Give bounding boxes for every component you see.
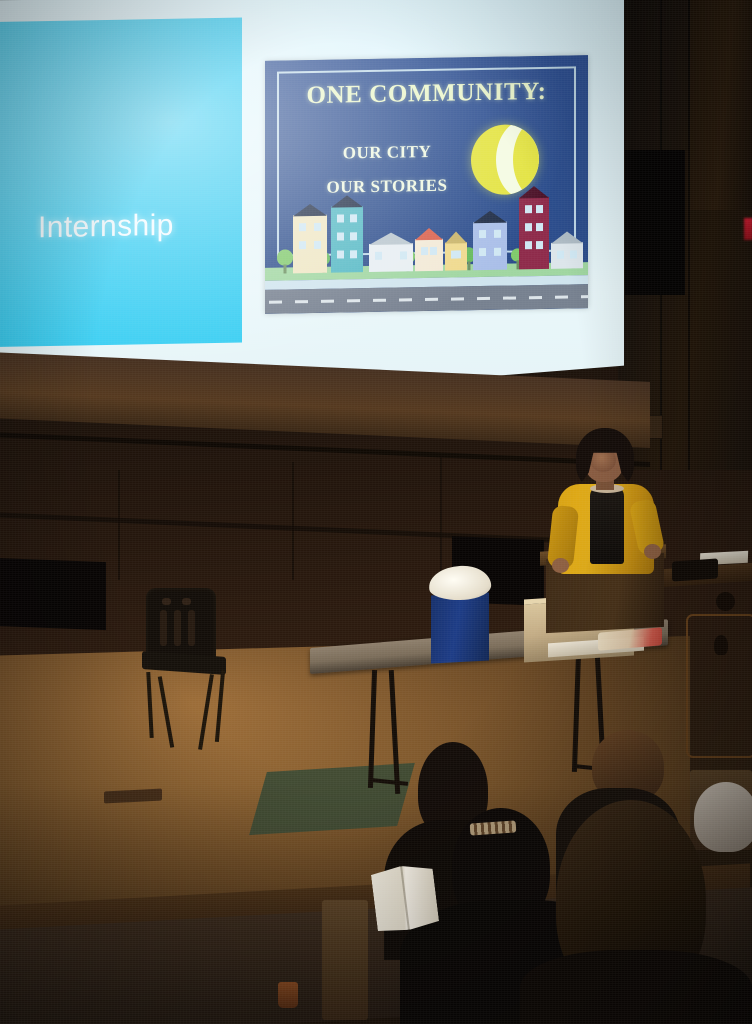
road-dash xyxy=(425,298,438,301)
chair-back xyxy=(146,588,216,660)
exit-light xyxy=(744,218,752,240)
stacking-chair xyxy=(138,588,242,756)
poster-tree xyxy=(277,249,293,273)
poster-building xyxy=(415,239,443,271)
road-dash xyxy=(451,297,464,300)
road-dash xyxy=(347,299,360,302)
road-dash xyxy=(373,299,386,302)
slide-title-block xyxy=(0,17,242,347)
seat-back xyxy=(322,900,368,1020)
audience-member-4-body xyxy=(520,950,752,1024)
dark-wall-panel xyxy=(625,150,685,295)
console-lock-icon[interactable] xyxy=(714,635,728,655)
road-dash xyxy=(503,296,516,299)
presenter-top xyxy=(590,486,624,564)
poster-building xyxy=(331,206,363,273)
poster-building xyxy=(519,197,549,270)
presentation-photo: Internship ONE COMMUNITY: OUR CITY OUR S… xyxy=(0,0,752,1024)
slide-poster-image: ONE COMMUNITY: OUR CITY OUR STORIES xyxy=(265,55,588,314)
dark-opening xyxy=(0,558,106,630)
poster-building xyxy=(445,242,467,270)
slide-title-text: Internship xyxy=(38,209,174,245)
poster-cityscape xyxy=(265,216,588,314)
road-dash xyxy=(321,300,334,303)
poster-headline: ONE COMMUNITY: xyxy=(265,77,588,111)
road-dash xyxy=(581,295,588,298)
presenter xyxy=(540,428,670,578)
program-paper[interactable] xyxy=(370,862,439,933)
presenter-left-hand xyxy=(552,558,569,573)
road-dash xyxy=(555,296,568,299)
presenter-right-hand xyxy=(644,544,661,559)
poster-building xyxy=(293,215,327,274)
panel-seam xyxy=(292,462,294,580)
panel-seam xyxy=(118,470,120,580)
panel-seam xyxy=(440,456,442,576)
road-dash xyxy=(529,296,542,299)
console-knob[interactable] xyxy=(716,592,735,611)
audience-member-5-head xyxy=(694,782,752,852)
road-dash xyxy=(295,300,308,303)
poster-subline-1: OUR CITY xyxy=(287,141,487,164)
road-dash xyxy=(399,298,412,301)
poster-building xyxy=(551,242,583,269)
poster-building xyxy=(473,222,507,271)
poster-subline-2: OUR STORIES xyxy=(287,175,487,198)
poster-building xyxy=(369,243,413,272)
drink-cup xyxy=(278,982,298,1008)
road-dash xyxy=(477,297,490,300)
tissue-box xyxy=(431,592,489,663)
road-dash xyxy=(269,301,282,304)
doorway xyxy=(690,0,752,210)
